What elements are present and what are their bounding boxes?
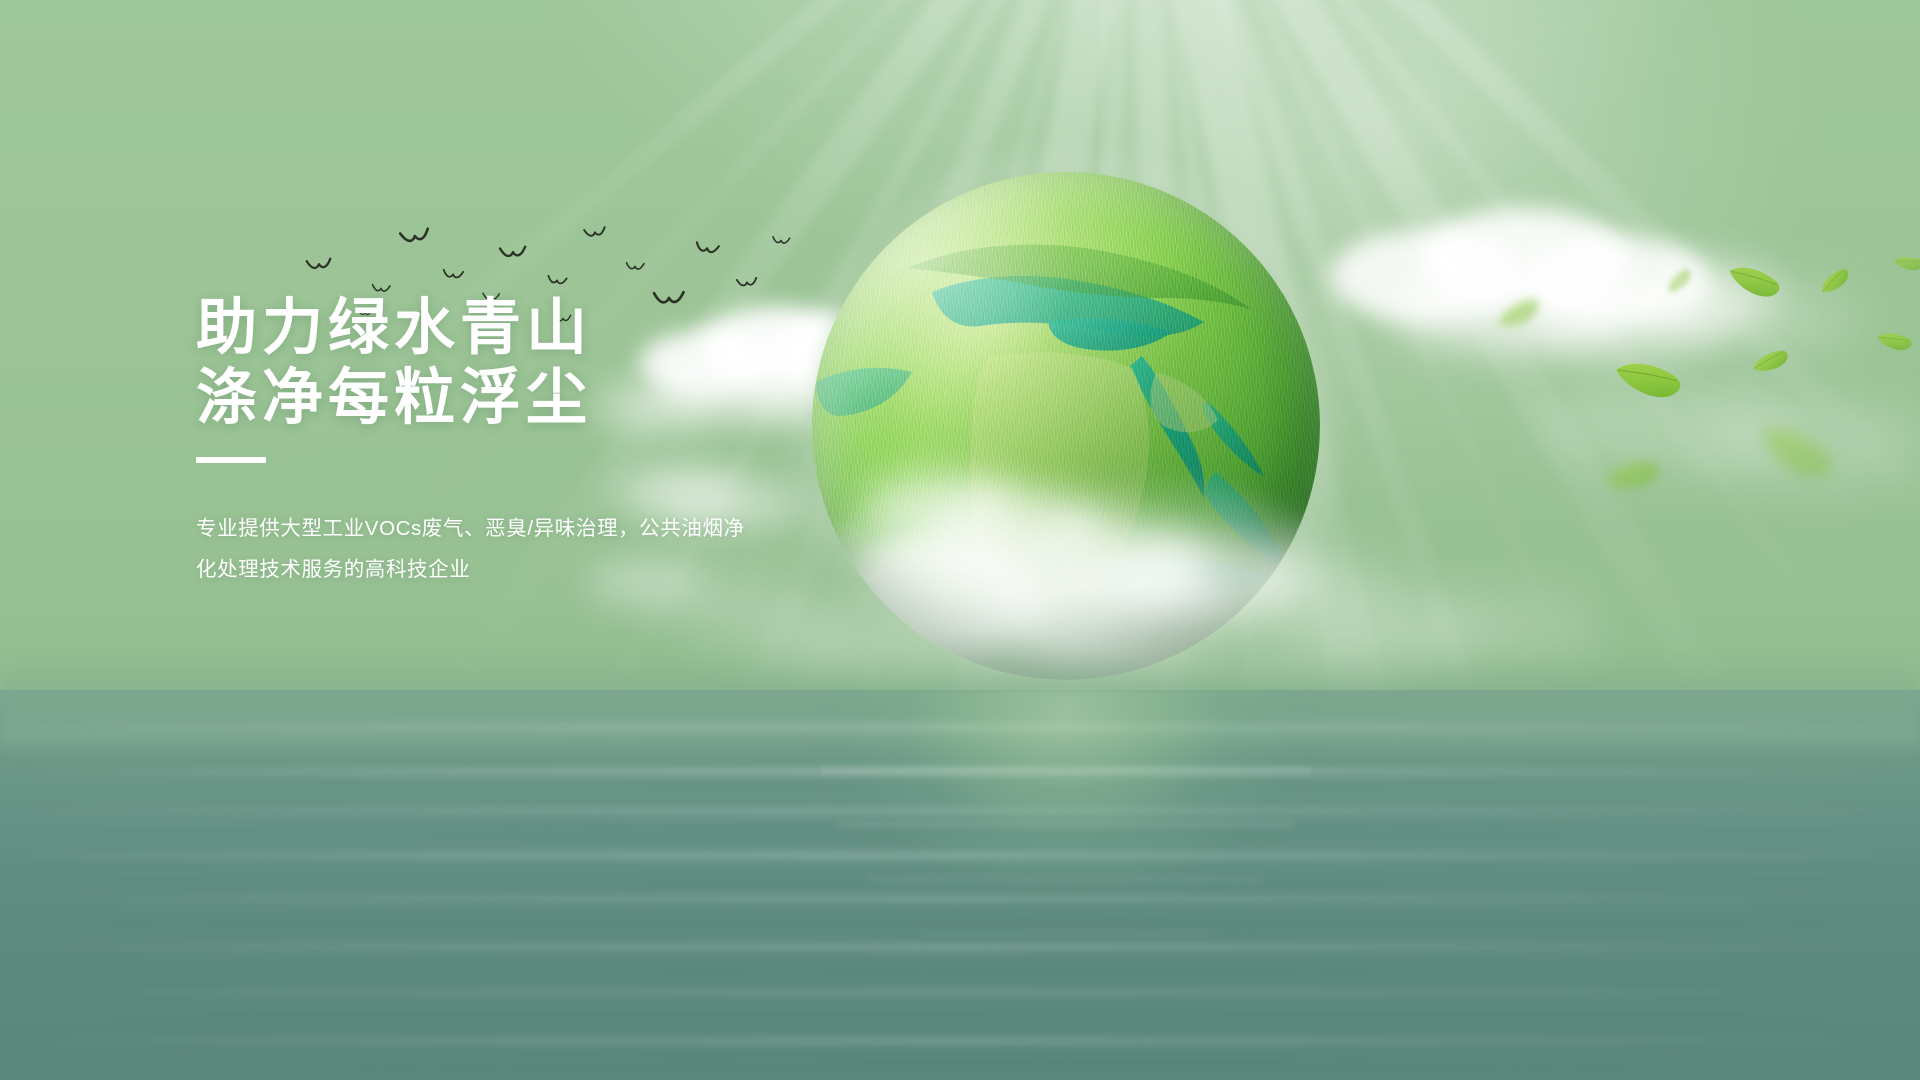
headline-divider bbox=[196, 457, 266, 463]
leaf-icon bbox=[1492, 293, 1546, 333]
leaf-icon bbox=[1749, 346, 1793, 376]
hero-copy: 助力绿水青山 涤净每粒浮尘 专业提供大型工业VOCs废气、恶臭/异味治理，公共油… bbox=[196, 292, 896, 590]
leaf-icon bbox=[1723, 256, 1786, 306]
headline-line-2: 涤净每粒浮尘 bbox=[196, 362, 896, 432]
description-line-2: 化处理技术服务的高科技企业 bbox=[196, 549, 896, 590]
banner-hero: 助力绿水青山 涤净每粒浮尘 专业提供大型工业VOCs废气、恶臭/异味治理，公共油… bbox=[0, 0, 1920, 1080]
leaf-icon bbox=[1750, 410, 1843, 493]
leaf-icon bbox=[1816, 264, 1855, 297]
water-ripple bbox=[0, 990, 1920, 995]
leaf-icon bbox=[1874, 327, 1916, 355]
leaf-icon bbox=[1601, 456, 1666, 493]
leaf-icon bbox=[1892, 253, 1920, 274]
water-ripple bbox=[0, 968, 1920, 973]
water-ripple bbox=[0, 1038, 1920, 1044]
water-ripple bbox=[0, 1016, 1920, 1021]
leaf-icon bbox=[1661, 264, 1696, 297]
water-ripple bbox=[0, 1060, 1920, 1065]
description-line-1: 专业提供大型工业VOCs废气、恶臭/异味治理，公共油烟净 bbox=[196, 508, 896, 549]
leaf-icon bbox=[1609, 350, 1688, 407]
headline-line-1: 助力绿水青山 bbox=[196, 292, 896, 362]
